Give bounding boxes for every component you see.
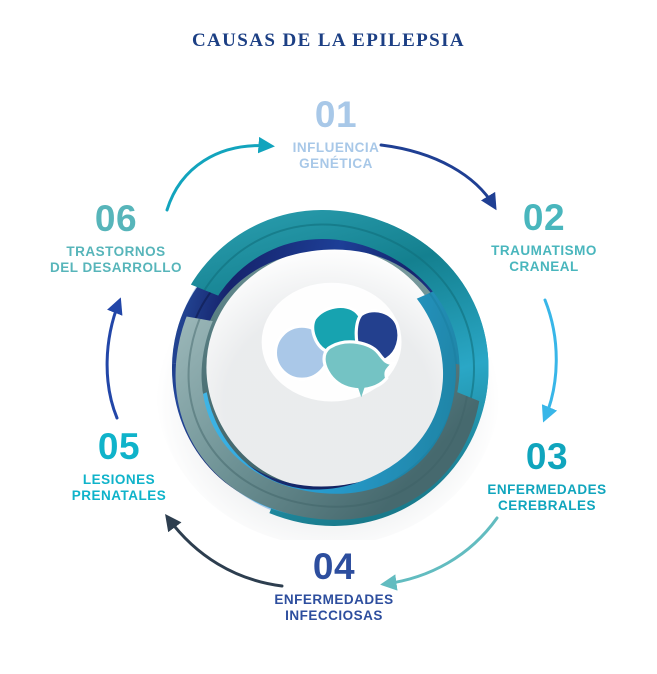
step-label-05-line1: LESIONES xyxy=(83,472,155,487)
step-item-01[interactable]: 01 INFLUENCIA GENÉTICA xyxy=(236,96,436,173)
step-label-04: ENFERMEDADES INFECCIOSAS xyxy=(234,592,434,625)
step-label-06-line2: DEL DESARROLLO xyxy=(50,260,182,275)
step-label-06-line1: TRASTORNOS xyxy=(66,244,165,259)
step-label-05: LESIONES PRENATALES xyxy=(24,472,214,505)
step-number-05: 05 xyxy=(24,428,214,467)
step-label-02: TRAUMATISMO CRANEAL xyxy=(448,243,640,276)
step-label-03: ENFERMEDADES CEREBRALES xyxy=(452,482,642,515)
step-label-04-line1: ENFERMEDADES xyxy=(274,592,393,607)
step-item-03[interactable]: 03 ENFERMEDADES CEREBRALES xyxy=(452,438,642,515)
step-item-06[interactable]: 06 TRASTORNOS DEL DESARROLLO xyxy=(16,200,216,277)
step-item-04[interactable]: 04 ENFERMEDADES INFECCIOSAS xyxy=(234,548,434,625)
step-number-02: 02 xyxy=(448,199,640,238)
infographic-canvas: CAUSAS DE LA EPILEPSIA xyxy=(0,0,657,674)
step-label-01: INFLUENCIA GENÉTICA xyxy=(236,140,436,173)
step-number-06: 06 xyxy=(16,200,216,239)
step-label-01-line2: GENÉTICA xyxy=(299,156,373,171)
step-number-04: 04 xyxy=(234,548,434,587)
step-label-02-line2: CRANEAL xyxy=(509,259,579,274)
step-number-01: 01 xyxy=(236,96,436,135)
step-label-03-line1: ENFERMEDADES xyxy=(487,482,606,497)
brain-icon xyxy=(262,283,402,402)
page-title: CAUSAS DE LA EPILEPSIA xyxy=(0,30,657,52)
step-item-05[interactable]: 05 LESIONES PRENATALES xyxy=(24,428,214,505)
step-number-03: 03 xyxy=(452,438,642,477)
step-label-02-line1: TRAUMATISMO xyxy=(491,243,597,258)
step-label-03-line2: CEREBRALES xyxy=(498,498,596,513)
step-label-05-line2: PRENATALES xyxy=(72,488,167,503)
step-label-04-line2: INFECCIOSAS xyxy=(285,608,383,623)
step-label-06: TRASTORNOS DEL DESARROLLO xyxy=(16,244,216,277)
step-label-01-line1: INFLUENCIA xyxy=(293,140,380,155)
arrow-05-to-06 xyxy=(107,302,119,418)
step-item-02[interactable]: 02 TRAUMATISMO CRANEAL xyxy=(448,199,640,276)
arrow-02-to-03 xyxy=(545,300,556,418)
